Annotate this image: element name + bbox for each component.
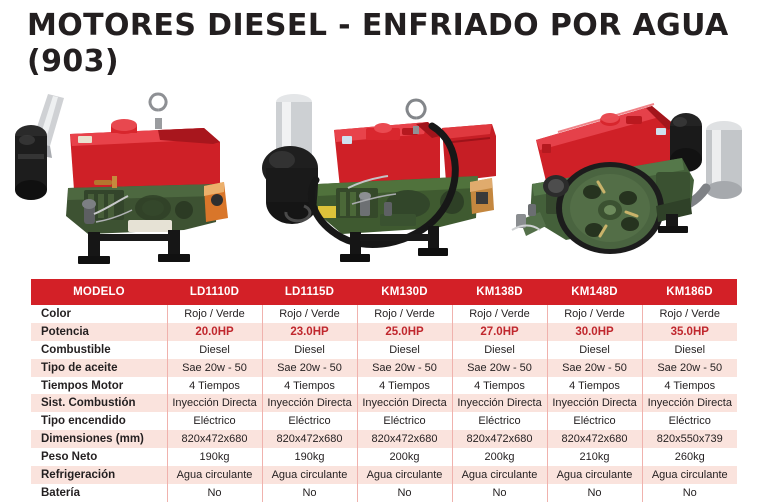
row-label-8: Peso Neto (31, 448, 167, 466)
cell-r4-c4: 4 Tiempos (547, 377, 642, 395)
cell-r0-c0: Rojo / Verde (167, 305, 262, 323)
row-label-1: Potencia (31, 323, 167, 341)
specifications-table-container: MODELO LD1110D LD1115D KM130D KM138D KM1… (31, 279, 737, 502)
table-row: Sist. CombustiónInyección DirectaInyecci… (31, 394, 737, 412)
cell-r0-c3: Rojo / Verde (452, 305, 547, 323)
cell-r5-c5: Inyección Directa (642, 394, 737, 412)
table-row: ColorRojo / VerdeRojo / VerdeRojo / Verd… (31, 305, 737, 323)
table-body: ColorRojo / VerdeRojo / VerdeRojo / Verd… (31, 305, 737, 502)
cell-r2-c3: Diesel (452, 341, 547, 359)
cell-r0-c4: Rojo / Verde (547, 305, 642, 323)
table-header: MODELO LD1110D LD1115D KM130D KM138D KM1… (31, 279, 737, 305)
cell-r3-c0: Sae 20w - 50 (167, 359, 262, 377)
table-row: Tipo de aceiteSae 20w - 50Sae 20w - 50Sa… (31, 359, 737, 377)
table-row: Dimensiones (mm)820x472x680820x472x68082… (31, 430, 737, 448)
cell-r3-c2: Sae 20w - 50 (357, 359, 452, 377)
cell-r10-c5: No (642, 484, 737, 502)
side-housing (470, 178, 494, 214)
cell-r5-c1: Inyección Directa (262, 394, 357, 412)
cell-r5-c2: Inyección Directa (357, 394, 452, 412)
cell-r0-c2: Rojo / Verde (357, 305, 452, 323)
row-label-2: Combustible (31, 341, 167, 359)
row-label-5: Sist. Combustión (31, 394, 167, 412)
cell-r8-c0: 190kg (167, 448, 262, 466)
table-row: CombustibleDieselDieselDieselDieselDiese… (31, 341, 737, 359)
table-header-model-4: KM148D (547, 279, 642, 305)
cell-r4-c1: 4 Tiempos (262, 377, 357, 395)
crank-cover (543, 175, 569, 197)
cell-r10-c1: No (262, 484, 357, 502)
row-label-7: Dimensiones (mm) (31, 430, 167, 448)
cell-r0-c5: Rojo / Verde (642, 305, 737, 323)
cell-r6-c5: Eléctrico (642, 412, 737, 430)
cell-r9-c1: Agua circulante (262, 466, 357, 484)
cell-r7-c4: 820x472x680 (547, 430, 642, 448)
cell-r9-c5: Agua circulante (642, 466, 737, 484)
cell-r4-c5: 4 Tiempos (642, 377, 737, 395)
cell-r2-c5: Diesel (642, 341, 737, 359)
cell-r6-c3: Eléctrico (452, 412, 547, 430)
cell-r4-c2: 4 Tiempos (357, 377, 452, 395)
cell-r3-c3: Sae 20w - 50 (452, 359, 547, 377)
product-photo-strip (0, 84, 768, 274)
engine-illustration-2 (256, 84, 506, 274)
cell-r6-c1: Eléctrico (262, 412, 357, 430)
table-header-model-2: KM130D (357, 279, 452, 305)
table-row: Tiempos Motor4 Tiempos4 Tiempos4 Tiempos… (31, 377, 737, 395)
table-row: Peso Neto190kg190kg200kg200kg210kg260kg (31, 448, 737, 466)
cell-r6-c4: Eléctrico (547, 412, 642, 430)
cell-r9-c2: Agua circulante (357, 466, 452, 484)
diesel-engine-photo-3 (506, 84, 762, 274)
cell-r9-c3: Agua circulante (452, 466, 547, 484)
cell-r7-c0: 820x472x680 (167, 430, 262, 448)
row-label-9: Refrigeración (31, 466, 167, 484)
table-header-model-5: KM186D (642, 279, 737, 305)
row-label-10: Batería (31, 484, 167, 502)
cell-r7-c2: 820x472x680 (357, 430, 452, 448)
cell-r3-c4: Sae 20w - 50 (547, 359, 642, 377)
cell-r1-c4: 30.0HP (547, 323, 642, 341)
engine-illustration-3 (506, 84, 762, 274)
cell-r8-c1: 190kg (262, 448, 357, 466)
table-row: Tipo encendidoEléctricoEléctricoEléctric… (31, 412, 737, 430)
cell-r1-c1: 23.0HP (262, 323, 357, 341)
row-label-6: Tipo encendido (31, 412, 167, 430)
cell-r4-c3: 4 Tiempos (452, 377, 547, 395)
cell-r5-c0: Inyección Directa (167, 394, 262, 412)
cell-r2-c2: Diesel (357, 341, 452, 359)
cell-r3-c1: Sae 20w - 50 (262, 359, 357, 377)
cell-r10-c4: No (547, 484, 642, 502)
engine-illustration-1 (8, 84, 256, 274)
row-label-3: Tipo de aceite (31, 359, 167, 377)
diesel-engine-photo-1 (8, 84, 256, 274)
cell-r7-c5: 820x550x739 (642, 430, 737, 448)
cell-r9-c0: Agua circulante (167, 466, 262, 484)
cell-r7-c3: 820x472x680 (452, 430, 547, 448)
table-header-model-3: KM138D (452, 279, 547, 305)
side-housing (204, 182, 228, 222)
row-label-4: Tiempos Motor (31, 377, 167, 395)
cell-r5-c4: Inyección Directa (547, 394, 642, 412)
cell-r6-c0: Eléctrico (167, 412, 262, 430)
cell-r6-c2: Eléctrico (357, 412, 452, 430)
table-row: Potencia20.0HP23.0HP25.0HP27.0HP30.0HP35… (31, 323, 737, 341)
cell-r7-c1: 820x472x680 (262, 430, 357, 448)
diesel-engine-photo-2 (256, 84, 506, 274)
cell-r8-c2: 200kg (357, 448, 452, 466)
cell-r10-c0: No (167, 484, 262, 502)
air-filter-icon (15, 125, 47, 200)
cell-r10-c3: No (452, 484, 547, 502)
table-header-row: MODELO LD1110D LD1115D KM130D KM138D KM1… (31, 279, 737, 305)
cell-r1-c2: 25.0HP (357, 323, 452, 341)
table-header-model-1: LD1115D (262, 279, 357, 305)
table-header-modelo: MODELO (31, 279, 167, 305)
cell-r1-c0: 20.0HP (167, 323, 262, 341)
cell-r10-c2: No (357, 484, 452, 502)
cell-r8-c4: 210kg (547, 448, 642, 466)
cell-r1-c5: 35.0HP (642, 323, 737, 341)
cell-r0-c1: Rojo / Verde (262, 305, 357, 323)
table-row: RefrigeraciónAgua circulanteAgua circula… (31, 466, 737, 484)
cell-r8-c5: 260kg (642, 448, 737, 466)
page-title: MOTORES DIESEL - ENFRIADO POR AGUA (903) (27, 8, 742, 80)
cell-r3-c5: Sae 20w - 50 (642, 359, 737, 377)
flywheel (556, 162, 664, 254)
table-row: BateríaNoNoNoNoNoNo (31, 484, 737, 502)
cell-r1-c3: 27.0HP (452, 323, 547, 341)
cell-r4-c0: 4 Tiempos (167, 377, 262, 395)
row-label-0: Color (31, 305, 167, 323)
fuel-tank (334, 122, 440, 188)
cell-r9-c4: Agua circulante (547, 466, 642, 484)
cell-r5-c3: Inyección Directa (452, 394, 547, 412)
cell-r8-c3: 200kg (452, 448, 547, 466)
cell-r2-c0: Diesel (167, 341, 262, 359)
specifications-table: MODELO LD1110D LD1115D KM130D KM138D KM1… (31, 279, 737, 502)
cell-r2-c1: Diesel (262, 341, 357, 359)
cell-r2-c4: Diesel (547, 341, 642, 359)
table-header-model-0: LD1110D (167, 279, 262, 305)
